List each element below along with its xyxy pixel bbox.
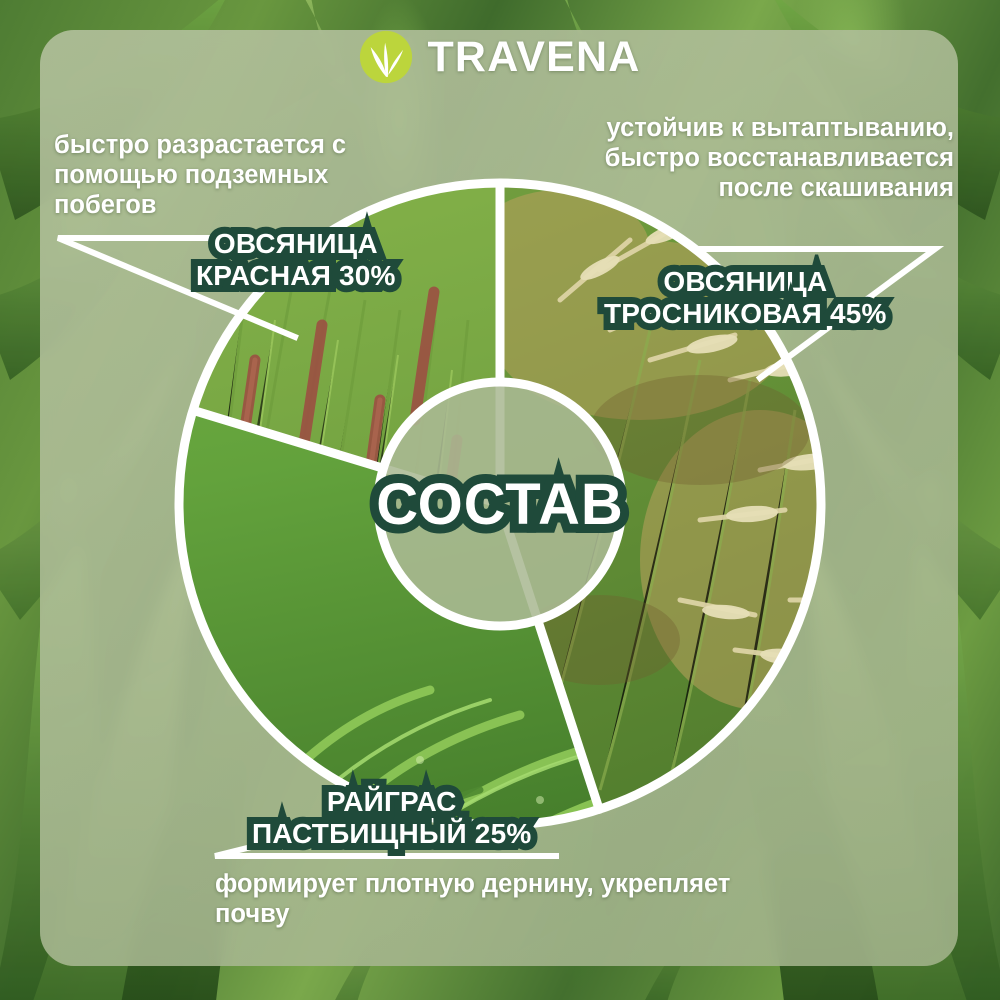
badge-red-fescue[interactable]: ОВСЯНИЦА КРАСНАЯ 30% [196, 228, 396, 291]
grass-leaf-circle-icon [359, 30, 413, 84]
badge-red-fescue-label: ОВСЯНИЦА КРАСНАЯ 30% [196, 228, 396, 291]
badge-reed-fescue-label: ОВСЯНИЦА ТРОСНИКОВАЯ 45% [604, 266, 887, 329]
badge-ryegrass[interactable]: РАЙГРАС ПАСТБИЩНЫЙ 25% [252, 786, 531, 849]
badge-reed-fescue[interactable]: ОВСЯНИЦА ТРОСНИКОВАЯ 45% [604, 266, 887, 329]
badge-ryegrass-label: РАЙГРАС ПАСТБИЩНЫЙ 25% [252, 786, 531, 849]
description-red-fescue: быстро разрастается с помощью подземных … [54, 131, 414, 220]
brand-header: TRAVENA [0, 30, 1000, 84]
description-ryegrass: формирует плотную дернину, укрепляет поч… [215, 870, 735, 930]
description-reed-fescue: устойчив к вытаптыванию, быстро восстана… [584, 114, 954, 203]
donut-center-label: СОСТАВ [376, 472, 624, 538]
donut-center-label-text: СОСТАВ [376, 472, 624, 538]
brand-name: TRAVENA [427, 36, 640, 79]
